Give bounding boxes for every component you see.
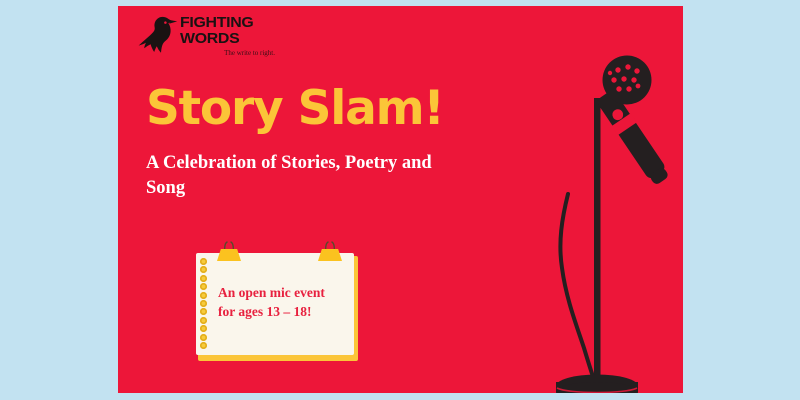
logo-line-2: WORDS — [180, 31, 281, 46]
ring-hole-icon — [200, 325, 207, 332]
mic-cable — [560, 194, 597, 388]
ring-hole-icon — [200, 308, 207, 315]
magpie-bird-icon — [138, 14, 178, 56]
ring-hole-icon — [200, 300, 207, 307]
ring-hole-icon — [200, 266, 207, 273]
mic-stand-pole — [594, 98, 601, 390]
ring-hole-icon — [200, 275, 207, 282]
ring-hole-icon — [200, 283, 207, 290]
note-card-rings — [200, 258, 210, 350]
binder-clip-body — [318, 249, 342, 261]
ring-hole-icon — [200, 334, 207, 341]
mic-stand-base — [556, 375, 638, 394]
binder-clip-right — [317, 241, 343, 261]
page-title: Story Slam! — [146, 84, 444, 134]
red-panel: FIGHTING WORDS The write to right. Story… — [118, 6, 683, 393]
logo-line-1: FIGHTING — [180, 15, 281, 30]
ring-hole-icon — [200, 317, 207, 324]
ring-hole-icon — [200, 258, 207, 265]
microphone-on-stand-illustration — [518, 46, 678, 393]
logo-wordmark: FIGHTING WORDS The write to right. — [180, 12, 275, 58]
binder-clip-body — [217, 249, 241, 261]
fighting-words-logo: FIGHTING WORDS The write to right. — [138, 12, 273, 58]
note-card-text: An open mic event for ages 13 – 18! — [218, 284, 348, 321]
binder-clip-left — [216, 241, 242, 261]
logo-tagline: The write to right. — [180, 49, 275, 58]
mic-head-grille — [603, 56, 652, 105]
note-card-line-2: for ages 13 – 18! — [218, 303, 348, 322]
ring-hole-icon — [200, 342, 207, 349]
note-card-line-1: An open mic event — [218, 284, 348, 303]
ring-hole-icon — [200, 292, 207, 299]
note-card: An open mic event for ages 13 – 18! — [196, 253, 356, 358]
page-subtitle: A Celebration of Stories, Poetry and Son… — [146, 151, 446, 201]
poster-canvas: FIGHTING WORDS The write to right. Story… — [0, 0, 800, 400]
